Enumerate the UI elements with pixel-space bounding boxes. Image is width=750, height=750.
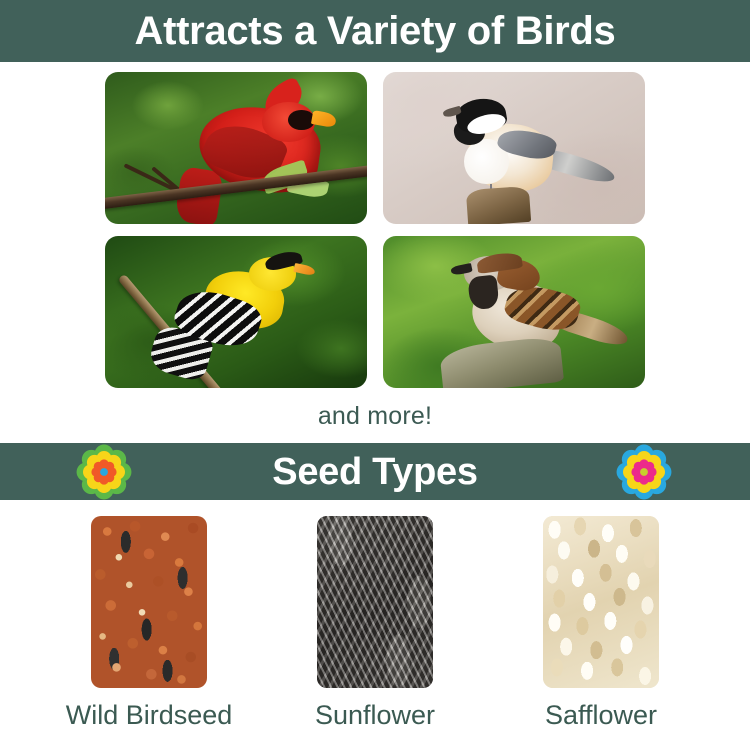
seed-label: Sunflower: [315, 700, 435, 731]
wild-birdseed-texture: [91, 516, 207, 688]
sunflower-texture: [317, 516, 433, 688]
seed-item-wild-birdseed: Wild Birdseed: [63, 516, 235, 731]
goldfinch-photo: [105, 236, 367, 388]
bird-photo-goldfinch: [105, 236, 367, 388]
seed-types-banner: Seed Types: [0, 443, 750, 500]
cardinal-photo: [105, 72, 367, 224]
seed-label: Safflower: [545, 700, 657, 731]
bird-photo-cardinal: [105, 72, 367, 224]
page-title: Attracts a Variety of Birds: [135, 11, 616, 51]
wild-birdseed-swatch: [91, 516, 207, 688]
seed-types-row: Wild Birdseed Sunflower Safflower: [0, 516, 750, 731]
flower-center: [100, 468, 108, 476]
safflower-texture: [543, 516, 659, 688]
safflower-swatch: [543, 516, 659, 688]
header-banner: Attracts a Variety of Birds: [0, 0, 750, 62]
seed-label: Wild Birdseed: [66, 700, 233, 731]
sparrow-photo: [383, 236, 645, 388]
flower-center: [640, 468, 648, 476]
bird-photo-chickadee: [383, 72, 645, 224]
sunflower-swatch: [317, 516, 433, 688]
seed-item-safflower: Safflower: [515, 516, 687, 731]
perch-rock-icon: [439, 336, 564, 388]
seed-types-title: Seed Types: [272, 453, 477, 491]
flower-icon: [616, 444, 672, 500]
bird-photo-grid: [105, 72, 645, 388]
bird-photo-sparrow: [383, 236, 645, 388]
flower-icon: [76, 444, 132, 500]
and-more-caption: and more!: [0, 402, 750, 431]
bird-seed-infographic: Attracts a Variety of Birds: [0, 0, 750, 750]
perch-stump-icon: [466, 185, 531, 224]
chickadee-photo: [383, 72, 645, 224]
cardinal-beak: [311, 110, 337, 128]
seed-item-sunflower: Sunflower: [289, 516, 461, 731]
goldfinch-beak: [293, 263, 315, 276]
